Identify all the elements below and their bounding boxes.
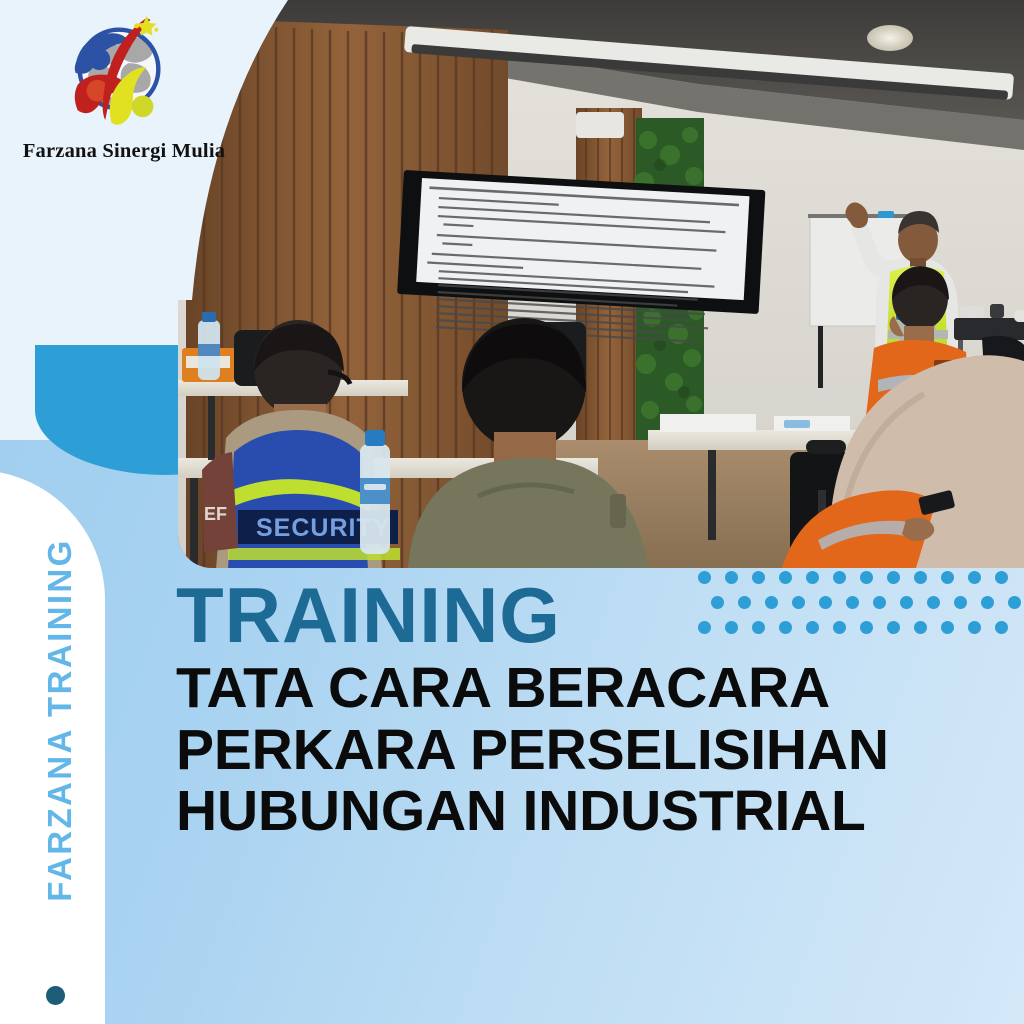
decorative-dot xyxy=(954,596,967,609)
brand-logo-block: Farzana Sinergi Mulia xyxy=(0,0,250,205)
decorative-dot xyxy=(995,621,1008,634)
decorative-dot xyxy=(900,596,913,609)
decorative-dot xyxy=(941,571,954,584)
decorative-dot xyxy=(968,621,981,634)
decorative-dot xyxy=(914,571,927,584)
decorative-dot xyxy=(981,596,994,609)
decorative-dot xyxy=(1008,596,1021,609)
headline-kicker: TRAINING xyxy=(176,578,866,652)
poster-canvas: SECURITY EF xyxy=(0,0,1024,1024)
decorative-dot xyxy=(887,621,900,634)
decorative-dot xyxy=(995,571,1008,584)
farzana-globe-people-logo-icon xyxy=(60,12,178,130)
headline-title-line-1: TATA CARA BERACARA xyxy=(176,658,866,720)
headline-title-line-3: HUBUNGAN INDUSTRIAL xyxy=(176,781,866,843)
photo-illustration: SECURITY EF xyxy=(178,0,1024,568)
decorative-dot xyxy=(887,571,900,584)
company-name: Farzana Sinergi Mulia xyxy=(8,140,240,163)
side-vertical-label: FARZANA TRAINING xyxy=(30,520,90,920)
decorative-dot xyxy=(914,621,927,634)
headline-block: TRAINING TATA CARA BERACARA PERKARA PERS… xyxy=(176,578,866,843)
headline-title: TATA CARA BERACARA PERKARA PERSELISIHAN … xyxy=(176,658,866,843)
decorative-dot xyxy=(968,571,981,584)
training-photo: SECURITY EF xyxy=(178,0,1024,568)
side-accent-dot xyxy=(46,986,65,1005)
headline-title-line-2: PERKARA PERSELISIHAN xyxy=(176,720,866,782)
decorative-dot xyxy=(927,596,940,609)
decorative-dot xyxy=(941,621,954,634)
decorative-dot xyxy=(873,596,886,609)
